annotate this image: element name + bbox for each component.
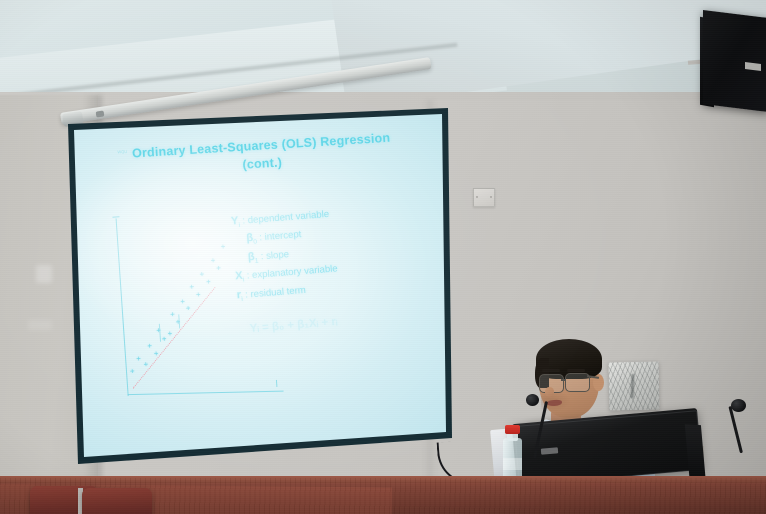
presenter-nose: [545, 387, 554, 397]
x-axis-tick: [276, 380, 278, 387]
variable-subscript: i: [241, 295, 243, 302]
wall-scuff: [36, 265, 52, 283]
data-point: +: [136, 355, 141, 363]
variable-definition: : dependent variable: [242, 209, 330, 227]
wall-scuff: [28, 320, 52, 330]
microphone-head: [731, 399, 746, 412]
microphone-head: [526, 394, 539, 406]
regression-fit-line: [133, 287, 216, 389]
variable-definitions-list: Yi : dependent variable β0 : intercept β…: [230, 199, 427, 306]
screw-icon: [476, 196, 478, 198]
chair: [82, 488, 152, 514]
wall-speaker: [703, 10, 766, 112]
data-point: +: [186, 305, 191, 313]
variable-subscript: 0: [253, 239, 257, 246]
variable-definition: : intercept: [259, 229, 302, 243]
bottle-cap[interactable]: [505, 425, 520, 434]
wall-switch-plate[interactable]: [473, 188, 495, 207]
data-point: +: [170, 311, 175, 319]
data-point: +: [221, 243, 226, 251]
eyebrow: [567, 369, 585, 372]
y-axis-tick: [112, 216, 119, 218]
data-point: +: [216, 264, 221, 272]
glasses-bridge: [561, 379, 566, 381]
data-point: +: [180, 298, 185, 306]
data-point: +: [154, 350, 159, 358]
data-point: +: [162, 335, 167, 343]
presentation-photo: WQU Ordinary Least-Squares (OLS) Regress…: [0, 0, 766, 514]
screw-icon: [490, 196, 492, 198]
data-point: +: [167, 330, 172, 338]
data-point: +: [196, 291, 201, 299]
variable-definition: : explanatory variable: [246, 264, 338, 282]
data-point: +: [130, 368, 135, 376]
data-point: +: [210, 257, 215, 265]
data-point: +: [147, 342, 152, 350]
variable-subscript: i: [243, 277, 245, 284]
eyebrow: [542, 369, 560, 372]
variable-subscript: 1: [255, 257, 259, 264]
slide-title: Ordinary Least-Squares (OLS) Regression …: [111, 127, 413, 181]
y-axis: [116, 218, 129, 396]
x-axis: [128, 391, 284, 396]
data-point: +: [189, 283, 194, 291]
bottle-label: [503, 458, 522, 470]
slide-content: WQU Ordinary Least-Squares (OLS) Regress…: [76, 101, 455, 445]
variable-subscript: i: [238, 222, 240, 229]
variable-definition: : slope: [260, 249, 289, 262]
data-point: +: [206, 278, 211, 286]
data-point: +: [143, 361, 148, 369]
variable-definition: : residual term: [245, 285, 306, 301]
data-point: +: [199, 271, 204, 279]
